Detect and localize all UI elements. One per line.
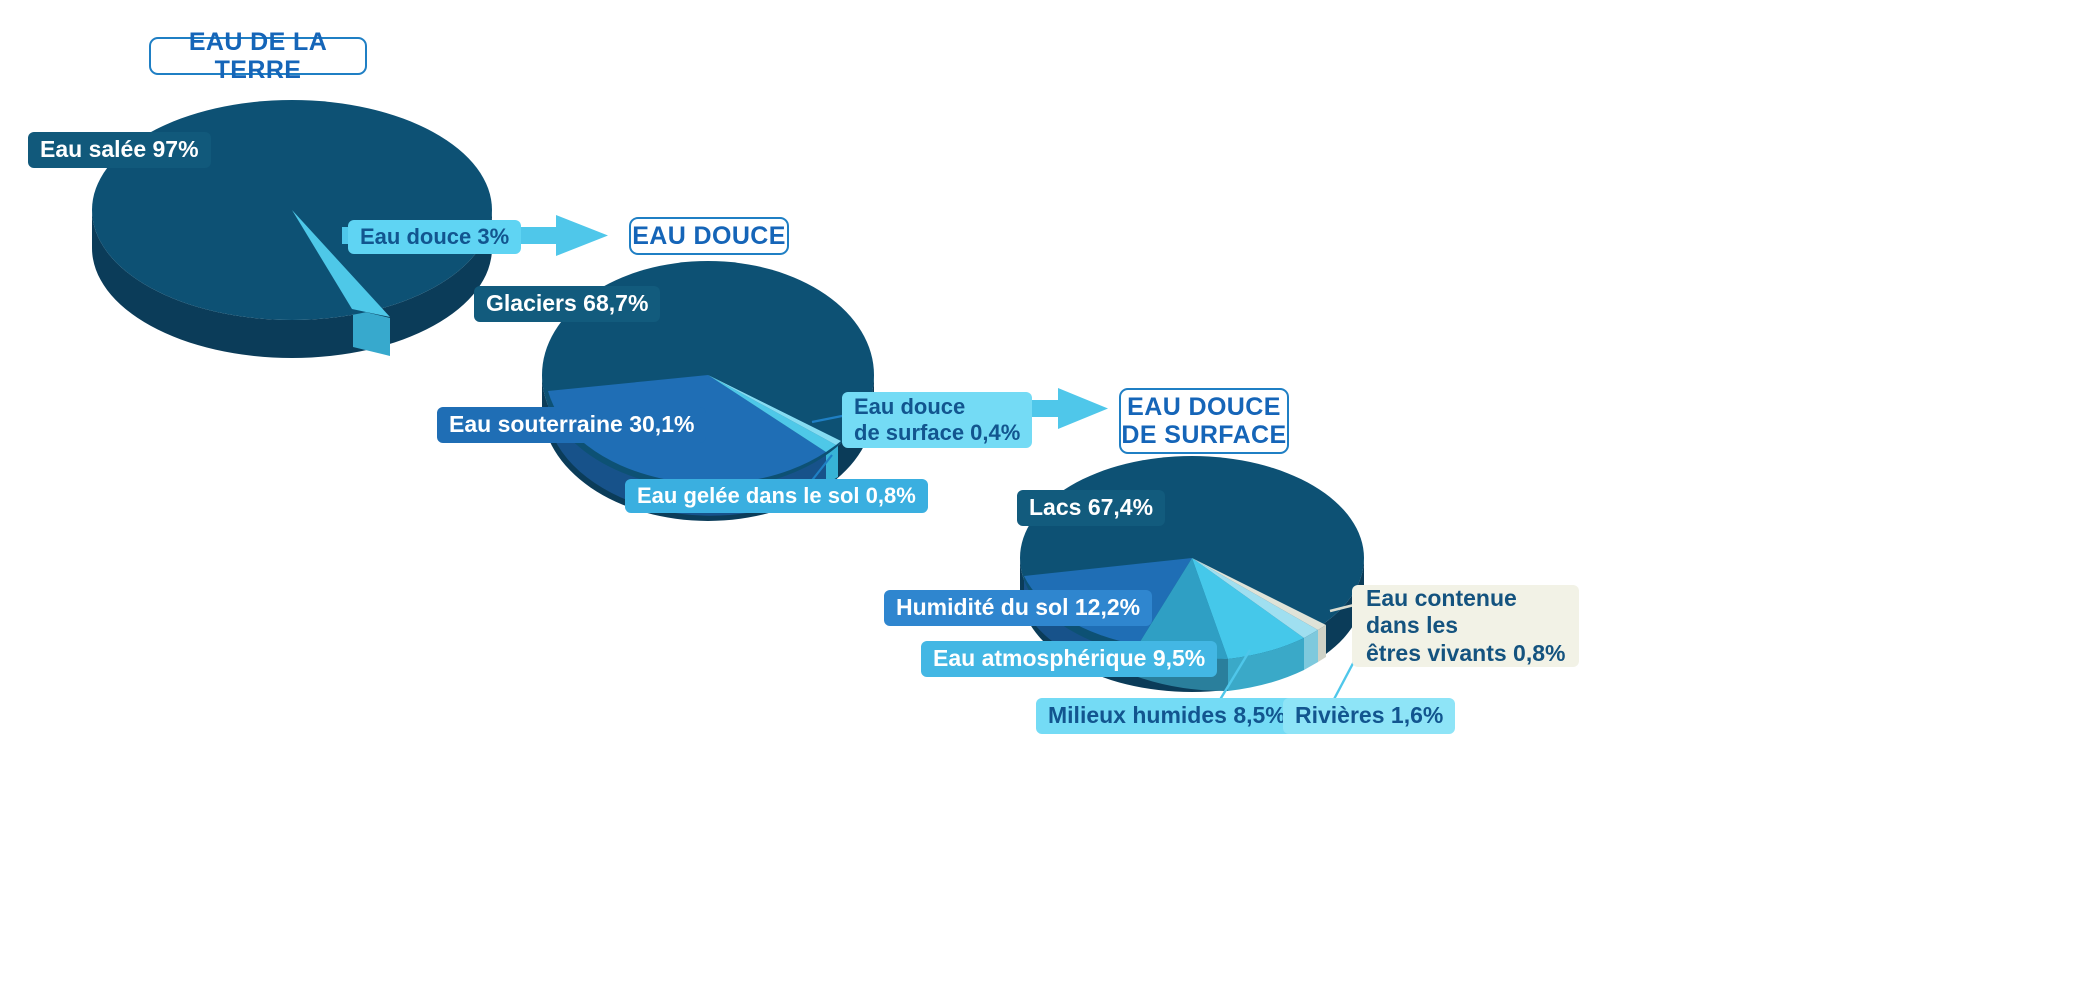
title-badge-fresh-water: EAU DOUCE [629,217,789,255]
label-atmospheric-water: Eau atmosphérique 9,5% [921,641,1217,677]
label-fresh-water-3: Eau douce 3% [348,220,521,254]
label-glaciers: Glaciers 68,7% [474,286,660,322]
title-badge-earth-water: EAU DE LA TERRE [149,37,367,75]
label-soil-moisture: Humidité du sol 12,2% [884,590,1152,626]
label-groundwater: Eau souterraine 30,1% [437,407,706,443]
label-surface-fresh-water: Eau douce de surface 0,4% [842,392,1032,448]
label-rivers: Rivières 1,6% [1283,698,1455,734]
title-badge-surface-fresh-water: EAU DOUCE DE SURFACE [1119,388,1289,454]
label-living-beings-water: Eau contenue dans les êtres vivants 0,8% [1352,585,1579,667]
infographic-canvas: EAU DE LA TERRE Eau salée 97% Eau douce … [0,0,2078,996]
label-frozen-soil-water: Eau gelée dans le sol 0,8% [625,479,928,513]
label-salt-water: Eau salée 97% [28,132,211,168]
label-lakes: Lacs 67,4% [1017,490,1165,526]
label-wetlands: Milieux humides 8,5% [1036,698,1298,734]
